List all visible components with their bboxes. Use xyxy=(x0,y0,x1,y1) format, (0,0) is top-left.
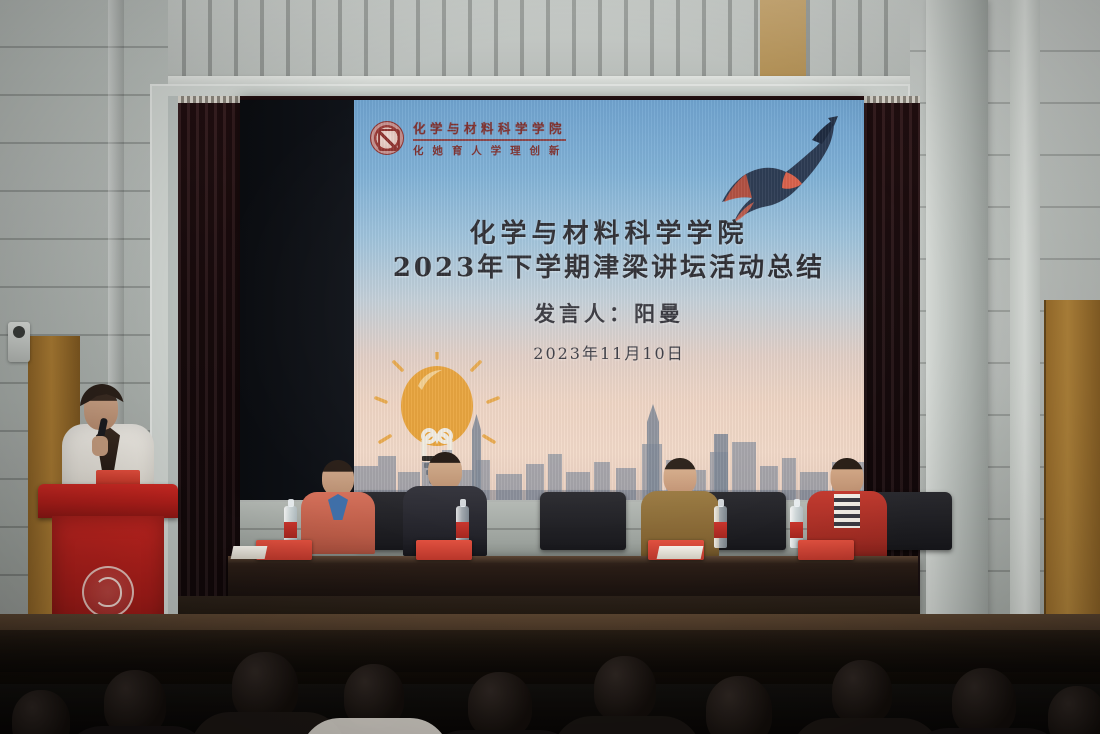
screen-dark-margin xyxy=(240,100,354,500)
university-emblem-icon xyxy=(82,566,134,618)
audience-head xyxy=(468,672,532,734)
audience-head xyxy=(594,656,656,722)
panelist-2-head xyxy=(428,452,462,490)
wall-speaker-icon xyxy=(8,322,30,362)
audience-shoulders xyxy=(790,718,942,734)
document-1 xyxy=(231,546,268,559)
flying-eagle-icon xyxy=(716,114,846,234)
curtain-rail-right xyxy=(864,96,920,103)
college-name: 化学与材料科学学院 xyxy=(413,118,566,137)
college-motto: 化 她 育 人 学 理 创 新 xyxy=(413,143,566,158)
audience-head xyxy=(832,660,892,724)
panelist-1-head xyxy=(322,460,354,496)
audience-head xyxy=(1048,686,1100,734)
audience-head xyxy=(952,668,1016,734)
audience-shoulders xyxy=(908,728,1066,734)
panel-chair-2 xyxy=(540,492,626,550)
university-seal-icon xyxy=(370,121,404,155)
nameplate-4 xyxy=(798,540,854,560)
audience-head xyxy=(104,670,166,734)
slide-header-text: 化学与材料科学学院 化 她 育 人 学 理 创 新 xyxy=(413,118,566,158)
slide-date-line: 2023年11月10日 xyxy=(354,340,864,364)
auditorium-scene: 化学与材料科学学院 化 她 育 人 学 理 创 新 xyxy=(0,0,1100,734)
podium-top xyxy=(38,484,178,518)
presenter-hand xyxy=(92,436,108,456)
logo-divider xyxy=(413,139,566,141)
nameplate-2 xyxy=(416,540,472,560)
projection-screen: 化学与材料科学学院 化 她 育 人 学 理 创 新 xyxy=(240,100,864,500)
seated-audience xyxy=(0,630,1100,734)
panelist-3-head xyxy=(664,458,697,495)
right-door[interactable] xyxy=(1044,300,1100,650)
ceiling-panel-accent xyxy=(760,0,806,78)
slide-text-block: 化学与材料科学学院 2023年下学期津梁讲坛活动总结 发言人：阳曼 2023年1… xyxy=(354,218,864,364)
slide-title-line-2: 2023年下学期津梁讲坛活动总结 xyxy=(354,251,864,286)
audience-head xyxy=(706,676,772,734)
panelist-4-stripes xyxy=(834,494,860,528)
water-bottle-3 xyxy=(714,506,727,548)
document-2 xyxy=(657,546,704,559)
slide-header-logo: 化学与材料科学学院 化 她 育 人 学 理 创 新 xyxy=(370,118,566,158)
audience-shoulders xyxy=(424,730,580,734)
right-pillar-secondary xyxy=(1010,0,1040,660)
right-pillar xyxy=(926,0,988,660)
audience-shoulders xyxy=(62,726,212,734)
curtain-rail-left xyxy=(178,96,240,103)
presentation-slide: 化学与材料科学学院 化 她 育 人 学 理 创 新 xyxy=(354,100,864,500)
panelist-4-head xyxy=(831,458,864,495)
slide-speaker-line: 发言人：阳曼 xyxy=(354,298,864,328)
audience-shoulders xyxy=(552,716,702,734)
audience-head xyxy=(12,690,70,734)
slide-title-line-1: 化学与材料科学学院 xyxy=(354,218,864,251)
